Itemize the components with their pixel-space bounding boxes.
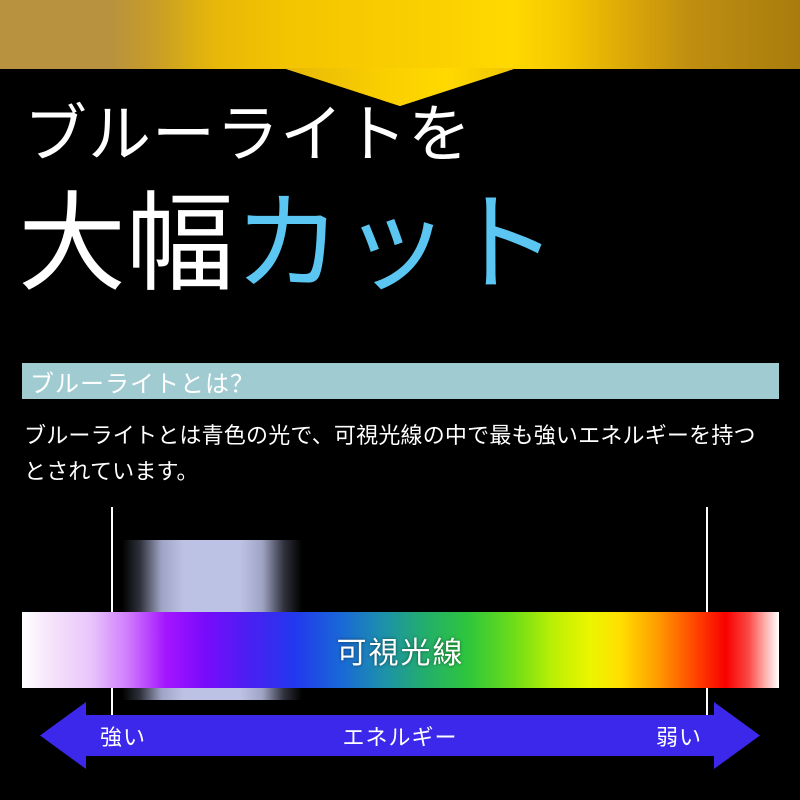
headline-line-2: 大幅カット (18, 192, 558, 300)
body-paragraph: ブルーライトとは青色の光で、可視光線の中で最も強いエネルギーを持つとされています… (24, 418, 769, 489)
energy-arrow (40, 702, 760, 769)
poster-root: ブルーライトを 大幅カット ブルーライトとは？ ブルーライトとは青色の光で、可視… (0, 0, 800, 800)
energy-arrow-shape (40, 702, 760, 769)
visible-spectrum-bar (22, 612, 779, 688)
section-heading-bar: ブルーライトとは？ (22, 363, 779, 399)
headline-line-2-white: 大幅 (18, 186, 234, 305)
headline-line-2-accent: カット (234, 186, 558, 305)
headline-line-1: ブルーライトを (24, 104, 472, 167)
spectrum-diagram: 紫外線 赤外線 ブルーライト領域 可視光線 強い エネルギー 弱い (0, 490, 800, 800)
gold-banner (0, 0, 800, 69)
section-heading-label: ブルーライトとは？ (22, 364, 255, 399)
